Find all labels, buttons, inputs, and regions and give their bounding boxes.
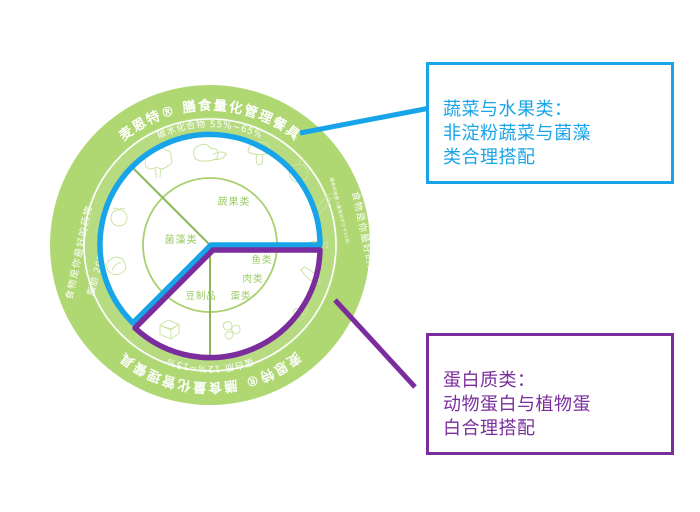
callout-vegetables-fruits[interactable]: 蔬菜与水果类： 非淀粉蔬菜与菌藻 类合理搭配 bbox=[426, 62, 674, 184]
wedge-label-mushrooms-algae: 菌藻类 bbox=[165, 233, 198, 246]
wedge-label-vegetables: 蔬果类 bbox=[218, 195, 251, 208]
callout-protein-text: 蛋白质类： 动物蛋白与植物蛋 白合理搭配 bbox=[443, 370, 591, 439]
leader-line-blue bbox=[300, 108, 430, 133]
wedge-label-eggs: 蛋类 bbox=[230, 290, 251, 302]
callout-protein[interactable]: 蛋白质类： 动物蛋白与植物蛋 白合理搭配 bbox=[426, 333, 674, 455]
wedge-label-fish: 鱼类 bbox=[251, 254, 272, 266]
callout-vegetables-fruits-text: 蔬菜与水果类： 非淀粉蔬菜与菌藻 类合理搭配 bbox=[443, 99, 591, 168]
diagram-stage: 麦恩特® 膳食量化管理餐具 麦恩特® 膳食量化管理餐具 食物是你最好的药物 食物… bbox=[0, 0, 700, 512]
leader-line-purple bbox=[335, 300, 415, 387]
wedge-label-soy-products: 豆制品 bbox=[186, 290, 217, 302]
wedge-label-meat: 肉类 bbox=[242, 273, 263, 285]
